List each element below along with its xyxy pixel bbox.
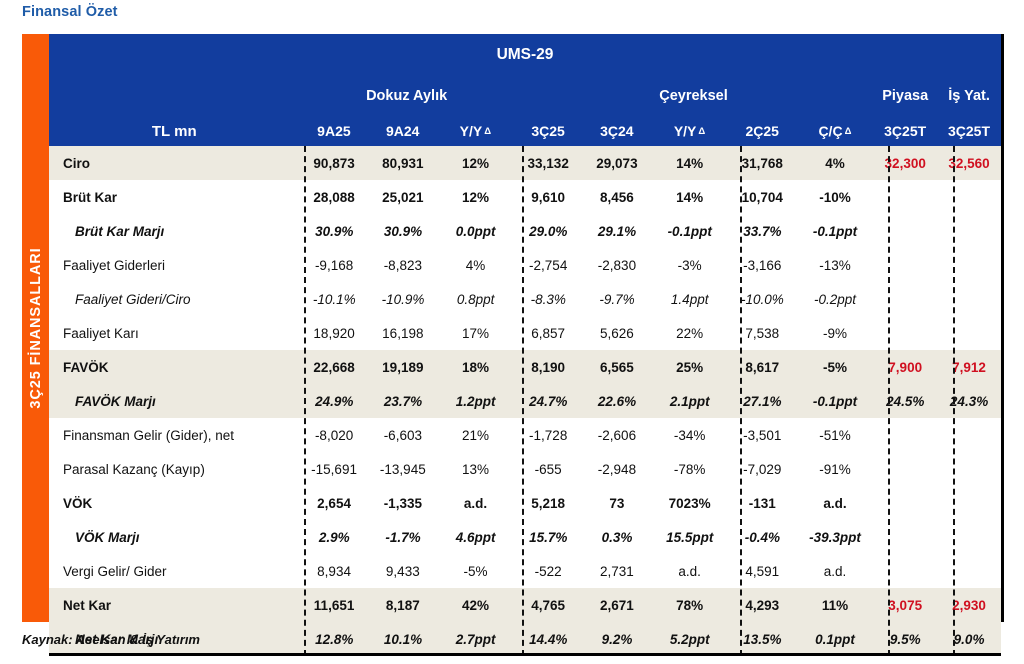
table-cell: 10.1% xyxy=(369,622,438,656)
col-header-3q25: 3Ç25 xyxy=(514,116,583,146)
column-separator-2 xyxy=(522,146,524,656)
col-header-yoy-delta-9m: Y/YΔ xyxy=(437,116,514,146)
table-row: Faaliyet Giderleri-9,168-8,8234%-2,754-2… xyxy=(49,248,1001,282)
table-cell: 29.0% xyxy=(514,214,583,248)
table-cell: -9.7% xyxy=(583,282,652,316)
table-cell xyxy=(873,554,937,588)
table-row: Vergi Gelir/ Gider8,9349,433-5%-5222,731… xyxy=(49,554,1001,588)
table-row: Brüt Kar28,08825,02112%9,6108,45614%10,7… xyxy=(49,180,1001,214)
table-cell: a.d. xyxy=(797,486,874,520)
table-cell xyxy=(873,214,937,248)
table-cell: 22.6% xyxy=(583,384,652,418)
group-is-yatirim: İş Yat. xyxy=(937,76,1001,116)
table-cell: 4% xyxy=(797,146,874,180)
group-dokuz-aylik: Dokuz Aylık xyxy=(300,76,514,116)
table-cell: -39.3ppt xyxy=(797,520,874,554)
table-cell: -10.9% xyxy=(369,282,438,316)
table-cell: -0.2ppt xyxy=(797,282,874,316)
table-cell: 5,626 xyxy=(583,316,652,350)
table-cell: -5% xyxy=(437,554,514,588)
table-cell: 4,591 xyxy=(728,554,797,588)
table-cell: -7,029 xyxy=(728,452,797,486)
table-cell xyxy=(873,248,937,282)
table-cell: 7,900 xyxy=(873,350,937,384)
table-cell: 11,651 xyxy=(300,588,369,622)
table-cell: -0.4% xyxy=(728,520,797,554)
table-cell: 7,538 xyxy=(728,316,797,350)
table-cell: -522 xyxy=(514,554,583,588)
table-cell xyxy=(937,486,1001,520)
table-cell xyxy=(937,418,1001,452)
table-cell xyxy=(937,180,1001,214)
table-cell xyxy=(937,316,1001,350)
row-label: VÖK xyxy=(49,486,300,520)
table-cell: 0.8ppt xyxy=(437,282,514,316)
table-cell: a.d. xyxy=(437,486,514,520)
table-cell: -2,830 xyxy=(583,248,652,282)
table-cell xyxy=(873,486,937,520)
table-cell: -1.7% xyxy=(369,520,438,554)
table-cell: 18% xyxy=(437,350,514,384)
table-cell: 0.0ppt xyxy=(437,214,514,248)
table-cell xyxy=(937,452,1001,486)
table-banner-title: UMS-29 xyxy=(49,34,1001,76)
table-cell: -8,823 xyxy=(368,248,437,282)
column-separator-3 xyxy=(740,146,742,656)
table-cell: -655 xyxy=(514,452,583,486)
table-cell: -10.0% xyxy=(728,282,797,316)
table-cell: 14% xyxy=(651,146,728,180)
table-cell: 12.8% xyxy=(300,622,369,656)
table-cell: 25% xyxy=(651,350,728,384)
table-cell: -8,020 xyxy=(300,418,369,452)
table-row: VÖK Marjı2.9%-1.7%4.6ppt15.7%0.3%15.5ppt… xyxy=(49,520,1001,554)
table-cell: -34% xyxy=(651,418,728,452)
table-row: Ciro90,87380,93112%33,13229,07314%31,768… xyxy=(49,146,1001,180)
table-cell: 2,671 xyxy=(583,588,652,622)
page-title: Finansal Özet xyxy=(22,4,118,20)
col-header-yoy-delta-q: Y/YΔ xyxy=(651,116,728,146)
table-cell: 29,073 xyxy=(583,146,652,180)
table-cell: 2.1ppt xyxy=(651,384,728,418)
table-cell: 8,187 xyxy=(368,588,437,622)
table-row: FAVÖK22,66819,18918%8,1906,56525%8,617-5… xyxy=(49,350,1001,384)
table-cell: 5,218 xyxy=(514,486,583,520)
row-label: Vergi Gelir/ Gider xyxy=(49,554,300,588)
table-cell: 15.7% xyxy=(514,520,583,554)
table-cell: 24.3% xyxy=(937,384,1001,418)
table-cell: 30.9% xyxy=(300,214,369,248)
row-label: FAVÖK Marjı xyxy=(49,384,300,418)
table-row: Parasal Kazanç (Kayıp)-15,691-13,94513%-… xyxy=(49,452,1001,486)
table-cell xyxy=(937,248,1001,282)
table-cell xyxy=(873,282,937,316)
table-cell: 12% xyxy=(437,146,514,180)
table-cell: 25,021 xyxy=(368,180,437,214)
row-label: Brüt Kar Marjı xyxy=(49,214,300,248)
table-cell: 13.5% xyxy=(728,622,797,656)
table-cell: -13% xyxy=(797,248,874,282)
table-cell xyxy=(937,554,1001,588)
table-grid: UMS-29 Dokuz Aylık Çeyreksel Piyasa İş Y… xyxy=(49,34,1004,622)
table-cell: 24.5% xyxy=(873,384,937,418)
table-cell: -2,606 xyxy=(583,418,652,452)
column-separator-5 xyxy=(953,146,955,656)
table-cell: 0.1ppt xyxy=(797,622,874,656)
table-cell: 0.3% xyxy=(583,520,652,554)
table-cell: -51% xyxy=(797,418,874,452)
row-label: Faaliyet Giderleri xyxy=(49,248,300,282)
table-cell: 24.7% xyxy=(514,384,583,418)
table-row: Brüt Kar Marjı30.9%30.9%0.0ppt29.0%29.1%… xyxy=(49,214,1001,248)
table-cell: 8,617 xyxy=(728,350,797,384)
section-spine-label: 3Ç25 FİNANSALLARI xyxy=(28,247,44,408)
table-cell: -2,754 xyxy=(514,248,583,282)
table-cell xyxy=(873,452,937,486)
table-cell: 8,456 xyxy=(583,180,652,214)
table-cell: 2,731 xyxy=(583,554,652,588)
table-cell: 28,088 xyxy=(300,180,369,214)
table-row: Finansman Gelir (Gider), net-8,020-6,603… xyxy=(49,418,1001,452)
table-row: FAVÖK Marjı24.9%23.7%1.2ppt24.7%22.6%2.1… xyxy=(49,384,1001,418)
table-cell: 33.7% xyxy=(728,214,797,248)
col-header-3q24: 3Ç24 xyxy=(582,116,651,146)
table-cell xyxy=(937,520,1001,554)
table-cell: 27.1% xyxy=(728,384,797,418)
section-spine: 3Ç25 FİNANSALLARI xyxy=(22,34,49,622)
table-cell: 4,765 xyxy=(514,588,583,622)
financial-summary-table: 3Ç25 FİNANSALLARI UMS-29 Dokuz Aylık Çey… xyxy=(22,34,1004,622)
table-row: VÖK2,654-1,335a.d.5,218737023%-131a.d. xyxy=(49,486,1001,520)
table-cell: 32,300 xyxy=(873,146,937,180)
col-header-market-3q25e: 3Ç25T xyxy=(873,116,937,146)
row-label: VÖK Marjı xyxy=(49,520,300,554)
table-cell: 32,560 xyxy=(937,146,1001,180)
table-cell: 11% xyxy=(797,588,874,622)
table-cell: -10.1% xyxy=(300,282,369,316)
table-cell: -0.1ppt xyxy=(797,214,874,248)
table-cell: 15.5ppt xyxy=(651,520,728,554)
table-cell: 7023% xyxy=(651,486,728,520)
table-cell: 5.2ppt xyxy=(651,622,728,656)
table-cell: 17% xyxy=(437,316,514,350)
table-cell: 4.6ppt xyxy=(437,520,514,554)
table-cell: 2.9% xyxy=(300,520,369,554)
table-bottom-rule xyxy=(49,653,1001,656)
table-cell: 6,565 xyxy=(583,350,652,384)
table-cell: 4,293 xyxy=(728,588,797,622)
table-cell: 13% xyxy=(437,452,514,486)
table-cell: 2,654 xyxy=(300,486,369,520)
table-cell: 31,768 xyxy=(728,146,797,180)
col-header-tl-mn: TL mn xyxy=(49,116,300,146)
table-cell: -0.1ppt xyxy=(797,384,874,418)
table-cell: 3,075 xyxy=(873,588,937,622)
row-label: Parasal Kazanç (Kayıp) xyxy=(49,452,300,486)
table-cell: -91% xyxy=(797,452,874,486)
table-cell: -5% xyxy=(797,350,874,384)
table-cell: -6,603 xyxy=(368,418,437,452)
group-ceyreksel: Çeyreksel xyxy=(514,76,874,116)
table-cell: 18,920 xyxy=(300,316,369,350)
table-cell: 1.4ppt xyxy=(651,282,728,316)
table-cell: 9,610 xyxy=(514,180,583,214)
table-cell: 33,132 xyxy=(514,146,583,180)
table-cell: 22% xyxy=(651,316,728,350)
table-cell: 21% xyxy=(437,418,514,452)
table-cell: -10% xyxy=(797,180,874,214)
source-note: Kaynak: Aselsan & İş Yatırım xyxy=(22,632,200,647)
table-cell: 10,704 xyxy=(728,180,797,214)
table-cell: 30.9% xyxy=(369,214,438,248)
table-cell: 9.0% xyxy=(937,622,1001,656)
column-group-row: Dokuz Aylık Çeyreksel Piyasa İş Yat. xyxy=(49,76,1001,116)
table-cell xyxy=(937,214,1001,248)
table-cell: 19,189 xyxy=(368,350,437,384)
group-piyasa: Piyasa xyxy=(873,76,937,116)
table-cell: 29.1% xyxy=(583,214,652,248)
table-cell: 9,433 xyxy=(368,554,437,588)
col-header-9a25: 9A25 xyxy=(300,116,369,146)
table-cell: 14% xyxy=(651,180,728,214)
col-header-isyat-3q25e: 3Ç25T xyxy=(937,116,1001,146)
table-cell: -9,168 xyxy=(300,248,369,282)
table-cell: -1,335 xyxy=(368,486,437,520)
column-label-row: TL mn 9A25 9A24 Y/YΔ 3Ç25 3Ç24 Y/YΔ 2Ç25… xyxy=(49,116,1001,146)
table-cell xyxy=(873,316,937,350)
table-cell xyxy=(873,418,937,452)
table-cell: -8.3% xyxy=(514,282,583,316)
table-cell: 8,190 xyxy=(514,350,583,384)
column-separator-1 xyxy=(304,146,306,656)
table-row: Net Kar11,6518,18742%4,7652,67178%4,2931… xyxy=(49,588,1001,622)
table-cell: 90,873 xyxy=(300,146,369,180)
table-cell: -9% xyxy=(797,316,874,350)
table-cell: 23.7% xyxy=(369,384,438,418)
col-header-9a24: 9A24 xyxy=(368,116,437,146)
table-cell: 16,198 xyxy=(368,316,437,350)
table-cell: 9.2% xyxy=(583,622,652,656)
table-cell: a.d. xyxy=(797,554,874,588)
table-row: Faaliyet Karı18,92016,19817%6,8575,62622… xyxy=(49,316,1001,350)
table-cell: -15,691 xyxy=(300,452,369,486)
table-row: Faaliyet Gideri/Ciro-10.1%-10.9%0.8ppt-8… xyxy=(49,282,1001,316)
row-label: Brüt Kar xyxy=(49,180,300,214)
table-cell: 2.7ppt xyxy=(437,622,514,656)
table-cell: 8,934 xyxy=(300,554,369,588)
row-label: FAVÖK xyxy=(49,350,300,384)
table-cell: 12% xyxy=(437,180,514,214)
table-cell: -3,166 xyxy=(728,248,797,282)
table-cell: 7,912 xyxy=(937,350,1001,384)
table-cell: 6,857 xyxy=(514,316,583,350)
table-cell xyxy=(873,180,937,214)
table-cell: 78% xyxy=(651,588,728,622)
table-cell: 1.2ppt xyxy=(437,384,514,418)
table-cell: -1,728 xyxy=(514,418,583,452)
table-cell: 2,930 xyxy=(937,588,1001,622)
table-cell: -78% xyxy=(651,452,728,486)
table-cell: -131 xyxy=(728,486,797,520)
table-cell: -3,501 xyxy=(728,418,797,452)
row-label: Ciro xyxy=(49,146,300,180)
table-cell: a.d. xyxy=(651,554,728,588)
table-body: Ciro90,87380,93112%33,13229,07314%31,768… xyxy=(49,146,1001,656)
row-label: Net Kar xyxy=(49,588,300,622)
table-cell: 22,668 xyxy=(300,350,369,384)
table-cell: 42% xyxy=(437,588,514,622)
table-cell: 4% xyxy=(437,248,514,282)
table-cell: 9.5% xyxy=(873,622,937,656)
table-cell xyxy=(873,520,937,554)
table-header: UMS-29 Dokuz Aylık Çeyreksel Piyasa İş Y… xyxy=(49,34,1001,146)
table-cell: 14.4% xyxy=(514,622,583,656)
table-cell: -3% xyxy=(651,248,728,282)
group-spacer xyxy=(49,76,300,116)
table-cell: -2,948 xyxy=(583,452,652,486)
row-label: Faaliyet Karı xyxy=(49,316,300,350)
col-header-qoq-delta: Ç/ÇΔ xyxy=(797,116,874,146)
column-separator-4 xyxy=(888,146,890,656)
table-cell: -13,945 xyxy=(368,452,437,486)
col-header-2q25: 2Ç25 xyxy=(728,116,797,146)
table-cell: 80,931 xyxy=(368,146,437,180)
row-label: Finansman Gelir (Gider), net xyxy=(49,418,300,452)
table-cell: 73 xyxy=(583,486,652,520)
table-cell: 24.9% xyxy=(300,384,369,418)
row-label: Faaliyet Gideri/Ciro xyxy=(49,282,300,316)
table-cell: -0.1ppt xyxy=(651,214,728,248)
table-cell xyxy=(937,282,1001,316)
